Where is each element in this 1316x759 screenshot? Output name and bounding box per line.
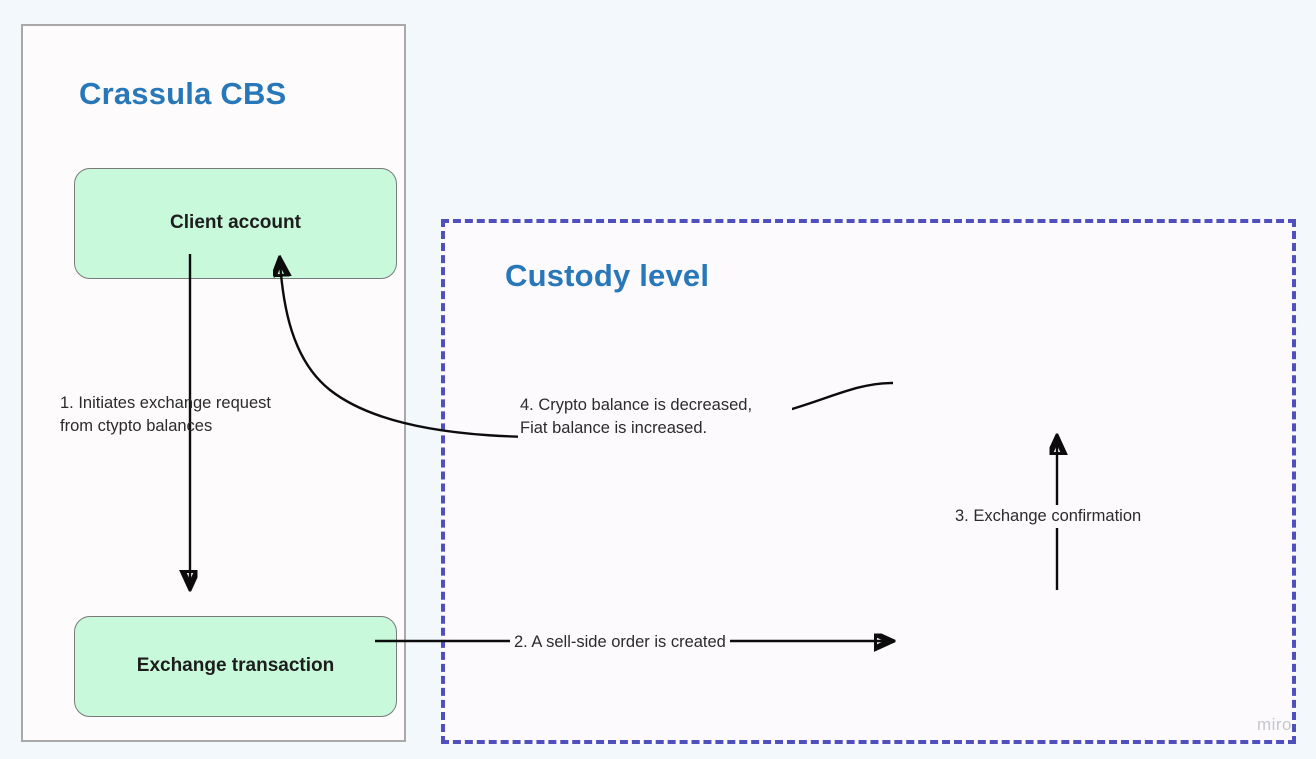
- node-label-exchange-transaction: Exchange transaction: [137, 654, 334, 679]
- node-client-account[interactable]: Client account: [74, 168, 397, 279]
- container-crassula-cbs[interactable]: Crassula CBS Client account Exchange tra…: [21, 24, 406, 742]
- edge-label-4: 4. Crypto balance is decreased, Fiat bal…: [518, 394, 792, 441]
- miro-watermark: miro: [1257, 715, 1292, 735]
- diagram-canvas: Crassula CBS Client account Exchange tra…: [0, 0, 1316, 759]
- node-label-client-account: Client account: [170, 211, 301, 236]
- container-title-crassula-cbs: Crassula CBS: [79, 76, 286, 112]
- edge-label-2: 2. A sell-side order is created: [510, 631, 730, 654]
- container-custody-level[interactable]: Custody level Crypto venue response Krak…: [441, 219, 1296, 744]
- container-title-custody-level: Custody level: [505, 258, 709, 294]
- edge-label-3: 3. Exchange confirmation: [951, 505, 1145, 528]
- edge-label-1: 1. Initiates exchange request from ctypt…: [60, 392, 320, 439]
- node-exchange-transaction[interactable]: Exchange transaction: [74, 616, 397, 717]
